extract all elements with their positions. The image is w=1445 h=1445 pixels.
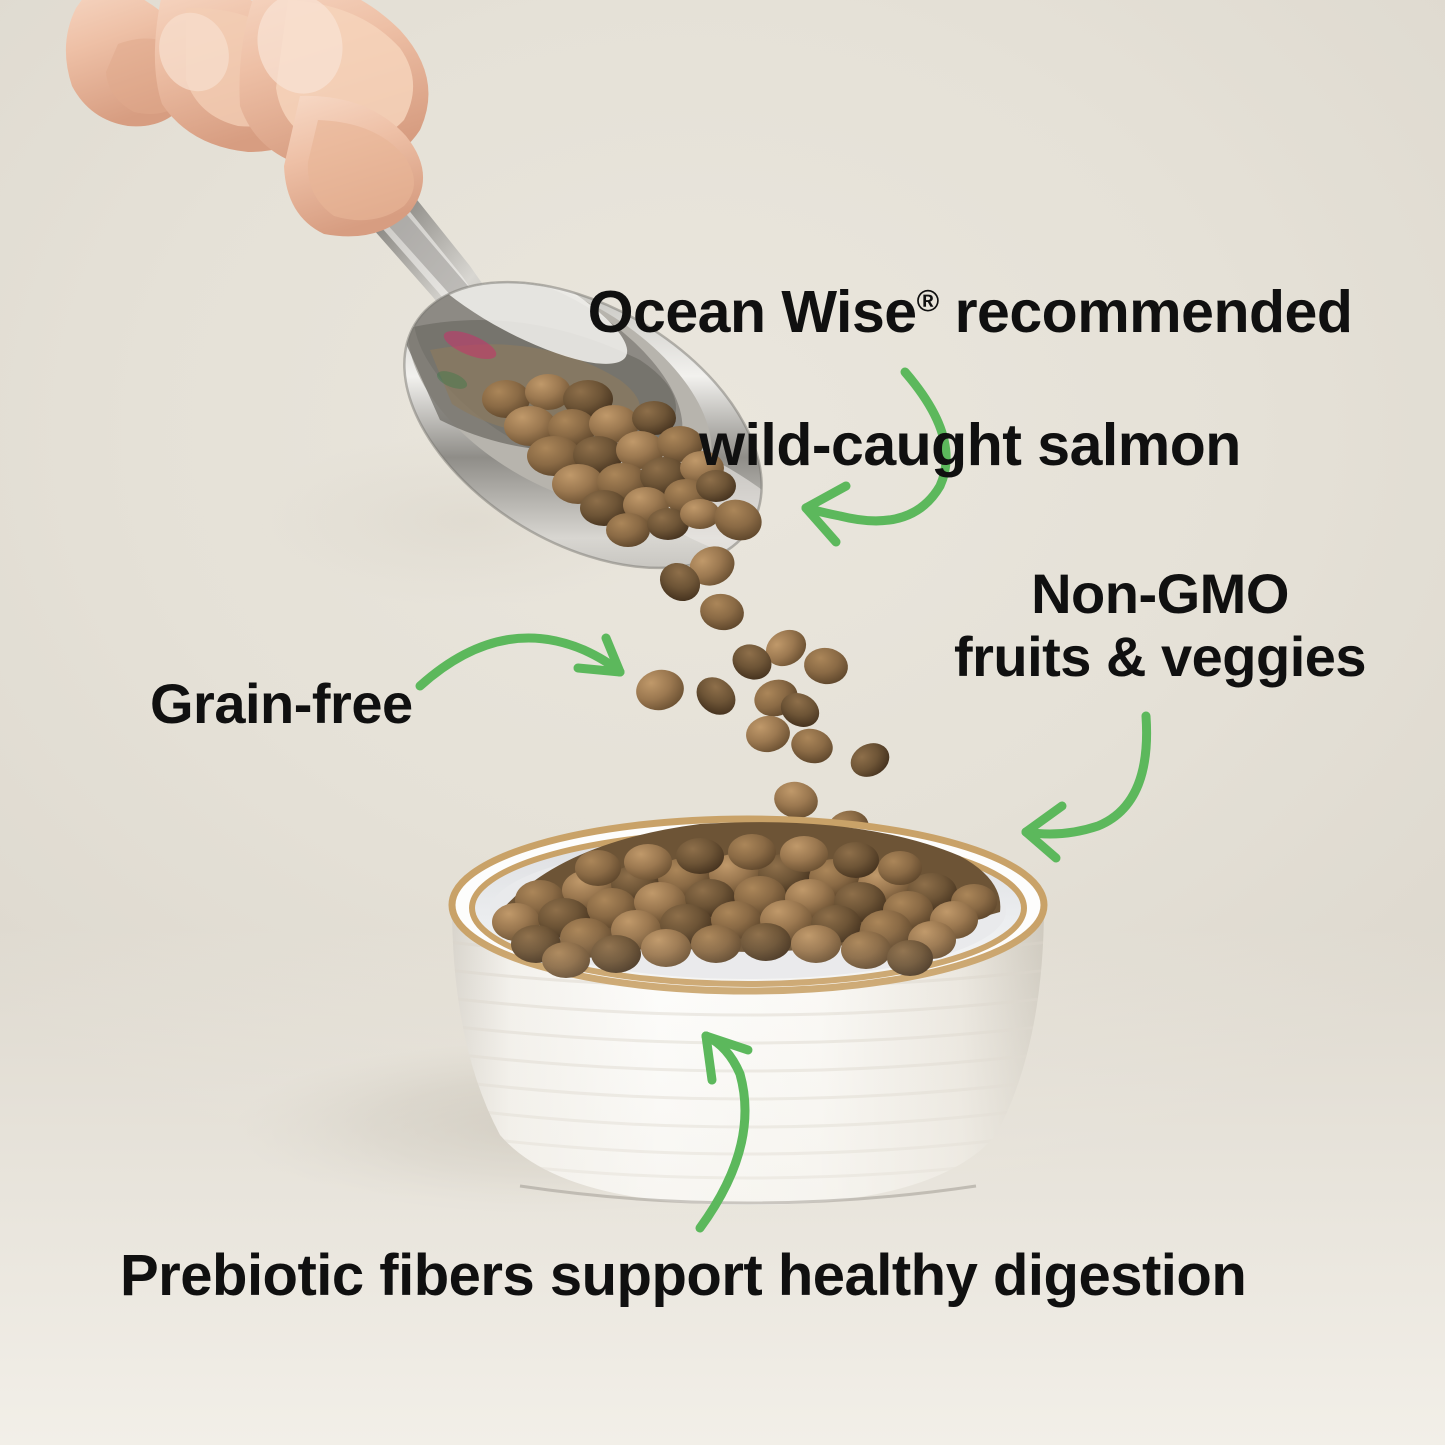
falling-kibble: [632, 494, 895, 851]
registered-trademark-icon: ®: [917, 283, 939, 318]
fingers: [66, 0, 429, 236]
arrow-to-bowl-rim-icon: [1026, 716, 1147, 858]
floor-gradient: [0, 925, 1445, 1445]
bowl-body: [452, 905, 1044, 1205]
feature-image: Ocean Wise® recommended wild-caught salm…: [0, 0, 1445, 1445]
callout-ocean-wise: Ocean Wise® recommended wild-caught salm…: [560, 212, 1380, 479]
arrow-to-bowl-icon: [700, 1036, 748, 1228]
callout-non-gmo: Non-GMO fruits & veggies: [930, 562, 1390, 689]
kibble-in-bowl: [492, 822, 1000, 978]
scoop-handle: [196, 0, 530, 378]
bowl-rim: [452, 819, 1044, 991]
callout-ocean-wise-line2: wild-caught salmon: [699, 412, 1241, 478]
callout-ocean-wise-line1: Ocean Wise: [588, 279, 917, 345]
bowl-shadow: [235, 1042, 855, 1214]
ceramic-bowl: [430, 819, 1066, 1205]
callout-ocean-wise-line1-tail: recommended: [939, 279, 1353, 345]
callout-prebiotic-fibers: Prebiotic fibers support healthy digesti…: [120, 1243, 1320, 1309]
callout-grain-free: Grain-free: [150, 672, 480, 735]
